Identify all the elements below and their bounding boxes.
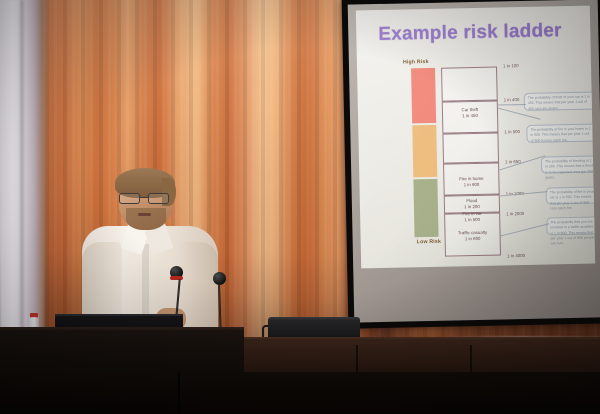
scale-label: 1 in 500: [504, 129, 520, 134]
ladder-rung: [441, 67, 498, 102]
scale-label: 1 in 100: [503, 63, 519, 68]
slide-content: Example risk ladder High Risk Low Risk C…: [356, 6, 595, 269]
callout-fire-car: The probability of fire in your car is 1…: [546, 186, 596, 204]
high-risk-label: High Risk: [403, 59, 429, 66]
ladder-rung: [442, 133, 499, 164]
glasses-lens-left: [119, 193, 140, 204]
presentation-photo-scene: Example risk ladder High Risk Low Risk C…: [0, 0, 600, 414]
scale-label: 1 in 4000: [507, 253, 525, 258]
callout-fire-home: The probability of fire in your home is …: [526, 123, 595, 142]
foreground-paneling: [0, 372, 600, 414]
risk-bar-high: [411, 68, 436, 123]
window-mullion: [20, 0, 24, 352]
glasses-bridge: [140, 197, 148, 198]
low-risk-label: Low Risk: [417, 239, 441, 246]
leader-line: [500, 223, 549, 236]
glasses-icon: [118, 193, 174, 204]
glasses-lens-right: [148, 193, 169, 204]
rung-value-traffic: 1 in 800: [445, 236, 501, 243]
beard: [126, 208, 166, 230]
paneling-seam: [178, 372, 180, 414]
scale-label: 1 in 400: [504, 97, 520, 102]
risk-bar-low: [413, 179, 438, 237]
rung-value-fire-home: 1 in 900: [443, 182, 499, 189]
callout-traffic: The probability that you are involved in…: [546, 216, 595, 235]
risk-bar-medium: [412, 125, 437, 177]
scale-label: 1 in 2000: [506, 211, 524, 216]
mouth: [138, 213, 151, 216]
callout-car-theft: The probability of theft of your car is …: [524, 91, 596, 111]
slide-title: Example risk ladder: [378, 20, 562, 46]
callout-flood: The probability of flooding is 1 in 200.…: [541, 155, 595, 173]
rung-value-flood: 1 in 200: [444, 204, 500, 211]
rung-value-car-theft: 1 in 450: [442, 113, 498, 120]
rung-value-fire-car: 1 in 500: [444, 217, 500, 224]
projection-screen: Example risk ladder High Risk Low Risk C…: [342, 0, 600, 329]
leader-line: [498, 104, 526, 105]
